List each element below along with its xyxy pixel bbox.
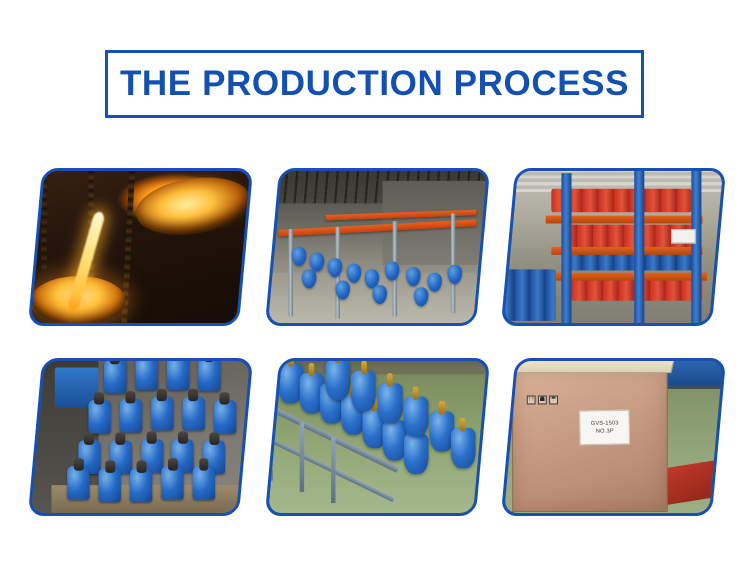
valve-body — [151, 397, 173, 431]
valve-body — [182, 397, 204, 431]
pallet-jack — [666, 457, 726, 504]
rack-upright — [561, 174, 571, 326]
page-title-banner: THE PRODUCTION PROCESS — [105, 50, 644, 118]
rack-upright — [634, 170, 644, 326]
rack-beam — [556, 273, 707, 281]
fragile-icon: ☗ — [538, 395, 547, 404]
support-post — [289, 229, 293, 317]
valve-body — [120, 398, 142, 432]
photo-image-packing-crate: ↑↑ ☗ ☂ GVS-1503 NO.3P — [501, 358, 726, 516]
shipping-label-line2: NO.3P — [596, 428, 614, 434]
valve-body — [198, 358, 220, 392]
conveyor-leg — [268, 408, 272, 481]
shipping-crate: ↑↑ ☗ ☂ GVS-1503 NO.3P — [512, 365, 669, 512]
photo-cell-casting[interactable] — [35, 168, 246, 326]
photo-image-warehouse — [501, 168, 726, 326]
finished-valve — [378, 384, 403, 424]
finished-valve — [325, 360, 350, 400]
conveyor-leg — [331, 437, 335, 503]
valve-body — [193, 466, 215, 500]
valve-body — [130, 468, 152, 502]
hanging-valve — [427, 273, 442, 292]
valve-body — [167, 358, 189, 390]
valve-body — [104, 360, 126, 394]
photo-frame — [501, 168, 726, 326]
handling-marks-group: ↑↑ ☗ ☂ — [527, 395, 558, 404]
shipping-label-line1: GVS-1503 — [591, 420, 619, 426]
conveyor-leg — [299, 422, 303, 492]
this-way-up-icon: ↑↑ — [527, 395, 536, 404]
keep-dry-icon: ☂ — [549, 395, 558, 404]
hanging-valve — [310, 252, 325, 271]
finished-valve — [404, 397, 429, 437]
valve-body — [161, 466, 183, 500]
hanging-valve — [302, 269, 317, 288]
hanging-valve — [291, 247, 306, 266]
photo-frame — [265, 358, 490, 516]
photo-cell-coating-line[interactable] — [272, 168, 483, 326]
finished-valve — [451, 428, 476, 468]
valve-body — [67, 466, 89, 500]
valve-body — [88, 400, 110, 434]
photo-cell-packing-crate[interactable]: ↑↑ ☗ ☂ GVS-1503 NO.3P — [508, 358, 719, 516]
production-photo-gallery: ↑↑ ☗ ☂ GVS-1503 NO.3P — [0, 163, 750, 538]
valve-body — [135, 358, 157, 390]
rack-upright — [692, 168, 702, 326]
photo-cell-finished-valves[interactable] — [272, 358, 483, 516]
photo-frame — [28, 358, 253, 516]
rack-label-sign — [671, 229, 696, 244]
stored-goods-blue — [501, 269, 556, 320]
production-process-page: THE PRODUCTION PROCESS — [0, 0, 750, 581]
valve-body — [214, 400, 236, 434]
stored-goods-red — [551, 188, 692, 212]
photo-image-finished-valves — [265, 358, 490, 516]
chain-icon — [41, 168, 47, 269]
finished-valve — [351, 371, 376, 411]
photo-image-casting — [28, 168, 253, 326]
finished-valve — [404, 433, 429, 473]
shipping-label: GVS-1503 NO.3P — [579, 409, 631, 445]
photo-frame — [28, 168, 253, 326]
crate-lid — [505, 358, 676, 373]
photo-cell-warehouse[interactable] — [508, 168, 719, 326]
rack-beam — [551, 247, 702, 255]
hanging-valve — [346, 264, 361, 283]
page-title: THE PRODUCTION PROCESS — [120, 64, 629, 104]
photo-frame: ↑↑ ☗ ☂ GVS-1503 NO.3P — [501, 358, 726, 516]
valve-body — [99, 468, 121, 502]
photo-image-assembly — [28, 358, 253, 516]
photo-image-coating-line — [265, 168, 490, 326]
photo-cell-assembly[interactable] — [35, 358, 246, 516]
photo-frame — [265, 168, 490, 326]
support-post — [451, 214, 455, 313]
